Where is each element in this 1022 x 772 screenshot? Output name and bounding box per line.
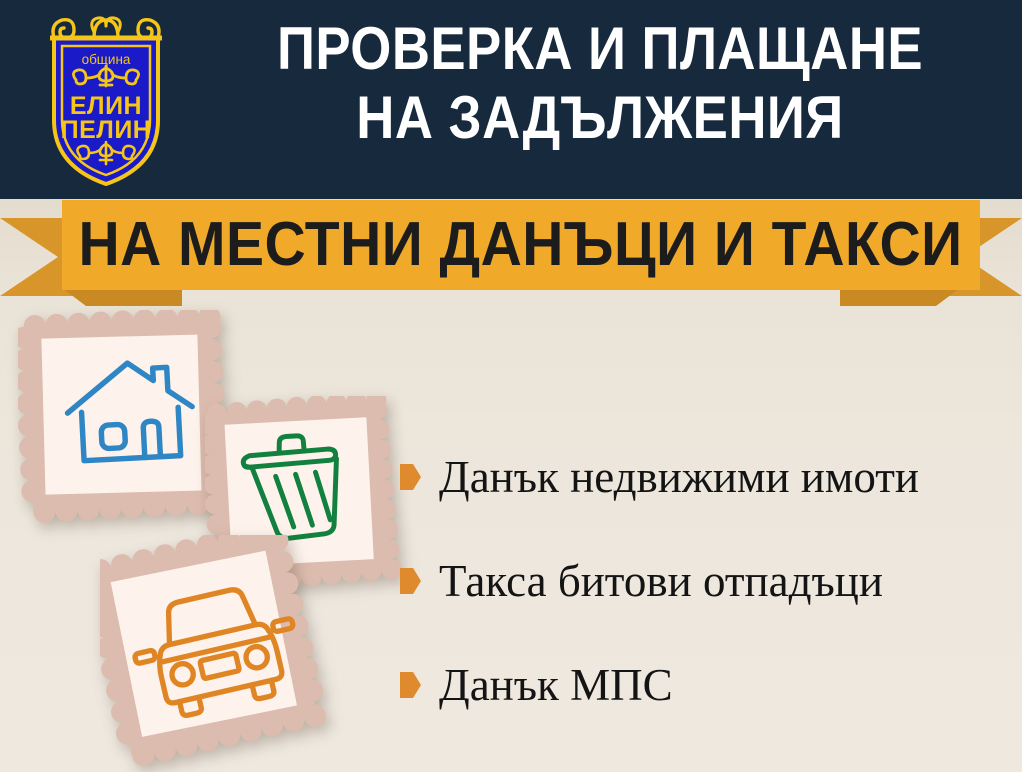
ribbon-main-panel: НА МЕСТНИ ДАНЪЦИ И ТАКСИ — [62, 200, 980, 290]
list-item[interactable]: Данък МПС — [400, 633, 1010, 737]
ribbon-label: НА МЕСТНИ ДАНЪЦИ И ТАКСИ — [79, 214, 963, 276]
list-item[interactable]: Данък недвижими имоти — [400, 425, 1010, 529]
list-item[interactable]: Такса битови отпадъци — [400, 529, 1010, 633]
stamp-card-vehicle-tax — [100, 535, 335, 770]
ribbon-banner: НА МЕСТНИ ДАНЪЦИ И ТАКСИ — [0, 200, 1022, 320]
ribbon-fold-right — [840, 288, 960, 306]
list-item-label: Данък недвижими имоти — [439, 455, 919, 500]
crest-name-line-2: ПЕЛИН — [61, 116, 152, 144]
list-item-label: Данък МПС — [439, 663, 673, 708]
arrow-bullet-icon — [400, 464, 421, 490]
tax-types-list: Данък недвижими имоти Такса битови отпад… — [400, 425, 1010, 737]
municipality-crest-logo: община ЕЛИН ПЕЛИН — [36, 8, 176, 192]
list-item-label: Такса битови отпадъци — [439, 559, 883, 604]
header-band: община ЕЛИН ПЕЛИН — [0, 0, 1022, 199]
arrow-bullet-icon — [400, 568, 421, 594]
page-title: ПРОВЕРКА И ПЛАЩАНЕ НА ЗАДЪЛЖЕНИЯ — [236, 14, 965, 152]
ribbon-fold-left — [62, 288, 182, 306]
arrow-bullet-icon — [400, 672, 421, 698]
poster-canvas: община ЕЛИН ПЕЛИН — [0, 0, 1022, 772]
